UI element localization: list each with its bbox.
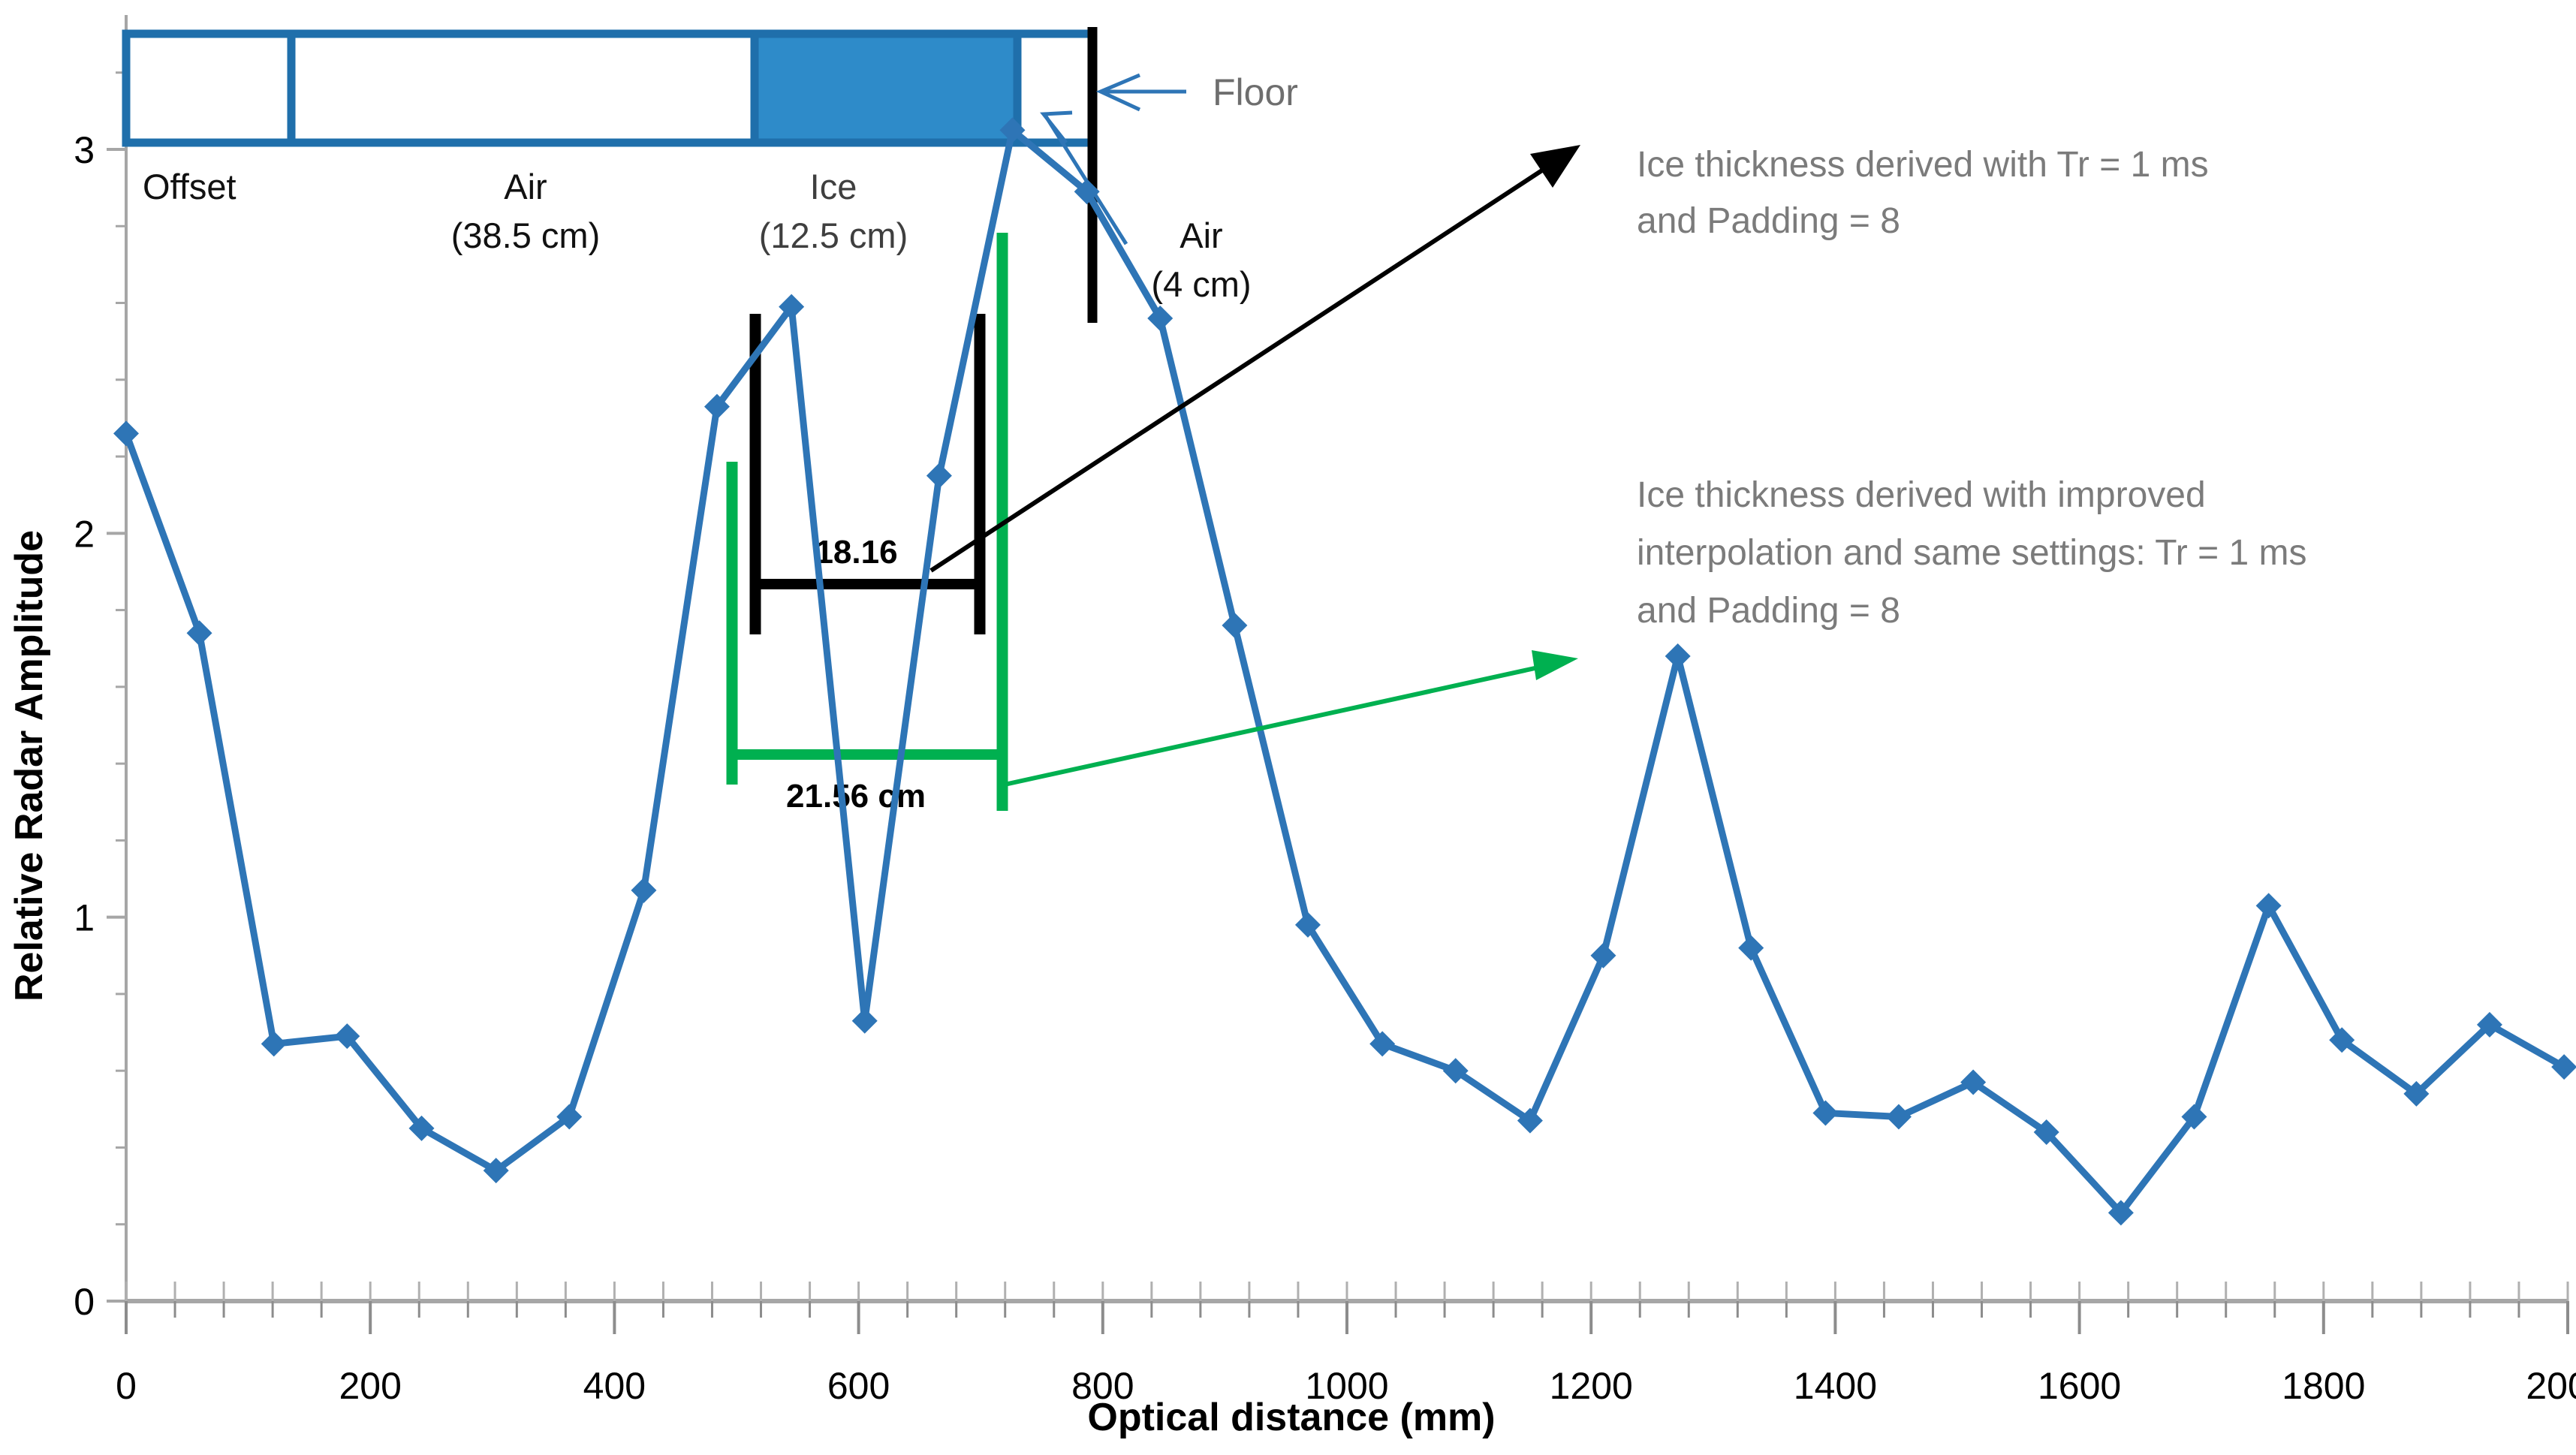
chart-canvas: 0123 02004006008001000120014001600180020… xyxy=(0,0,2576,1455)
green-callout-line2: interpolation and same settings: Tr = 1 … xyxy=(1637,533,2306,573)
floor-label: Floor xyxy=(1213,71,1298,113)
series-marker xyxy=(1738,935,1764,961)
schematic-segment-label: Ice xyxy=(810,167,857,206)
green-callout-line3: and Padding = 8 xyxy=(1637,591,1900,631)
series-marker xyxy=(261,1031,287,1056)
y-tick-label: 0 xyxy=(74,1281,95,1323)
schematic-segment xyxy=(126,34,291,143)
x-tick-label: 1800 xyxy=(2282,1365,2365,1407)
schematic-segment xyxy=(291,34,755,143)
axes-group: 0123 02004006008001000120014001600180020… xyxy=(74,15,2576,1407)
x-tick-label: 2000 xyxy=(2526,1365,2576,1407)
series-marker xyxy=(631,878,656,903)
x-tick-label: 600 xyxy=(827,1365,890,1407)
y-tick-label: 1 xyxy=(74,897,95,939)
series-marker xyxy=(852,1008,878,1034)
series-marker xyxy=(2256,893,2282,918)
x-tick-label: 1200 xyxy=(1550,1365,1633,1407)
data-series-line xyxy=(113,117,2576,1225)
x-tick-label: 1400 xyxy=(1794,1365,1877,1407)
green-callout-line1: Ice thickness derived with improved xyxy=(1637,475,2206,515)
y-tick-label: 3 xyxy=(74,129,95,171)
series-marker xyxy=(113,420,139,446)
x-tick-label: 1600 xyxy=(2038,1365,2121,1407)
green-callout-arrow xyxy=(1005,650,1578,785)
series-marker xyxy=(1886,1104,1912,1130)
schematic-bar: OffsetAir(38.5 cm)Ice(12.5 cm)Air(4 cm) xyxy=(126,34,1252,304)
schematic-segment-sublabel: (4 cm) xyxy=(1151,264,1251,304)
chart-root: 0123 02004006008001000120014001600180020… xyxy=(0,0,2576,1455)
series-marker xyxy=(1222,613,1247,638)
x-axis-title: Optical distance (mm) xyxy=(1087,1396,1495,1439)
y-axis-tick-labels: 0123 xyxy=(74,129,95,1323)
series-polyline xyxy=(126,130,2564,1212)
y-axis-title: Relative Radar Amplitude xyxy=(8,530,51,1002)
green-callout-text: Ice thickness derived with improved inte… xyxy=(1637,475,2306,631)
green-measurement-label: 21.56 cm xyxy=(786,778,926,815)
x-tick-label: 200 xyxy=(339,1365,401,1407)
series-marker xyxy=(1590,943,1616,968)
y-axis-ticks xyxy=(107,73,126,1301)
black-callout-line2: and Padding = 8 xyxy=(1637,201,1900,241)
x-tick-label: 400 xyxy=(583,1365,646,1407)
black-callout-arrow xyxy=(931,145,1580,571)
series-marker xyxy=(1665,643,1691,669)
schematic-segment-label: Air xyxy=(1180,215,1222,255)
black-measurement-label: 18.16 xyxy=(815,534,897,571)
schematic-segment-sublabel: (12.5 cm) xyxy=(759,215,908,255)
measurement-markers xyxy=(732,233,1002,811)
black-callout-text: Ice thickness derived with Tr = 1 ms and… xyxy=(1637,145,2209,241)
x-axis-ticks xyxy=(126,1282,2568,1334)
series-marker xyxy=(1812,1100,1838,1125)
black-callout-line1: Ice thickness derived with Tr = 1 ms xyxy=(1637,145,2209,185)
schematic-segment-label: Air xyxy=(504,167,547,206)
floor-arrow-icon xyxy=(1101,75,1186,110)
schematic-segment xyxy=(755,34,1017,143)
x-tick-label: 0 xyxy=(116,1365,137,1407)
schematic-segment-label: Offset xyxy=(143,167,237,206)
series-marker xyxy=(926,463,952,489)
series-marker xyxy=(187,620,212,646)
y-tick-label: 2 xyxy=(74,513,95,555)
schematic-segment-sublabel: (38.5 cm) xyxy=(451,215,601,255)
